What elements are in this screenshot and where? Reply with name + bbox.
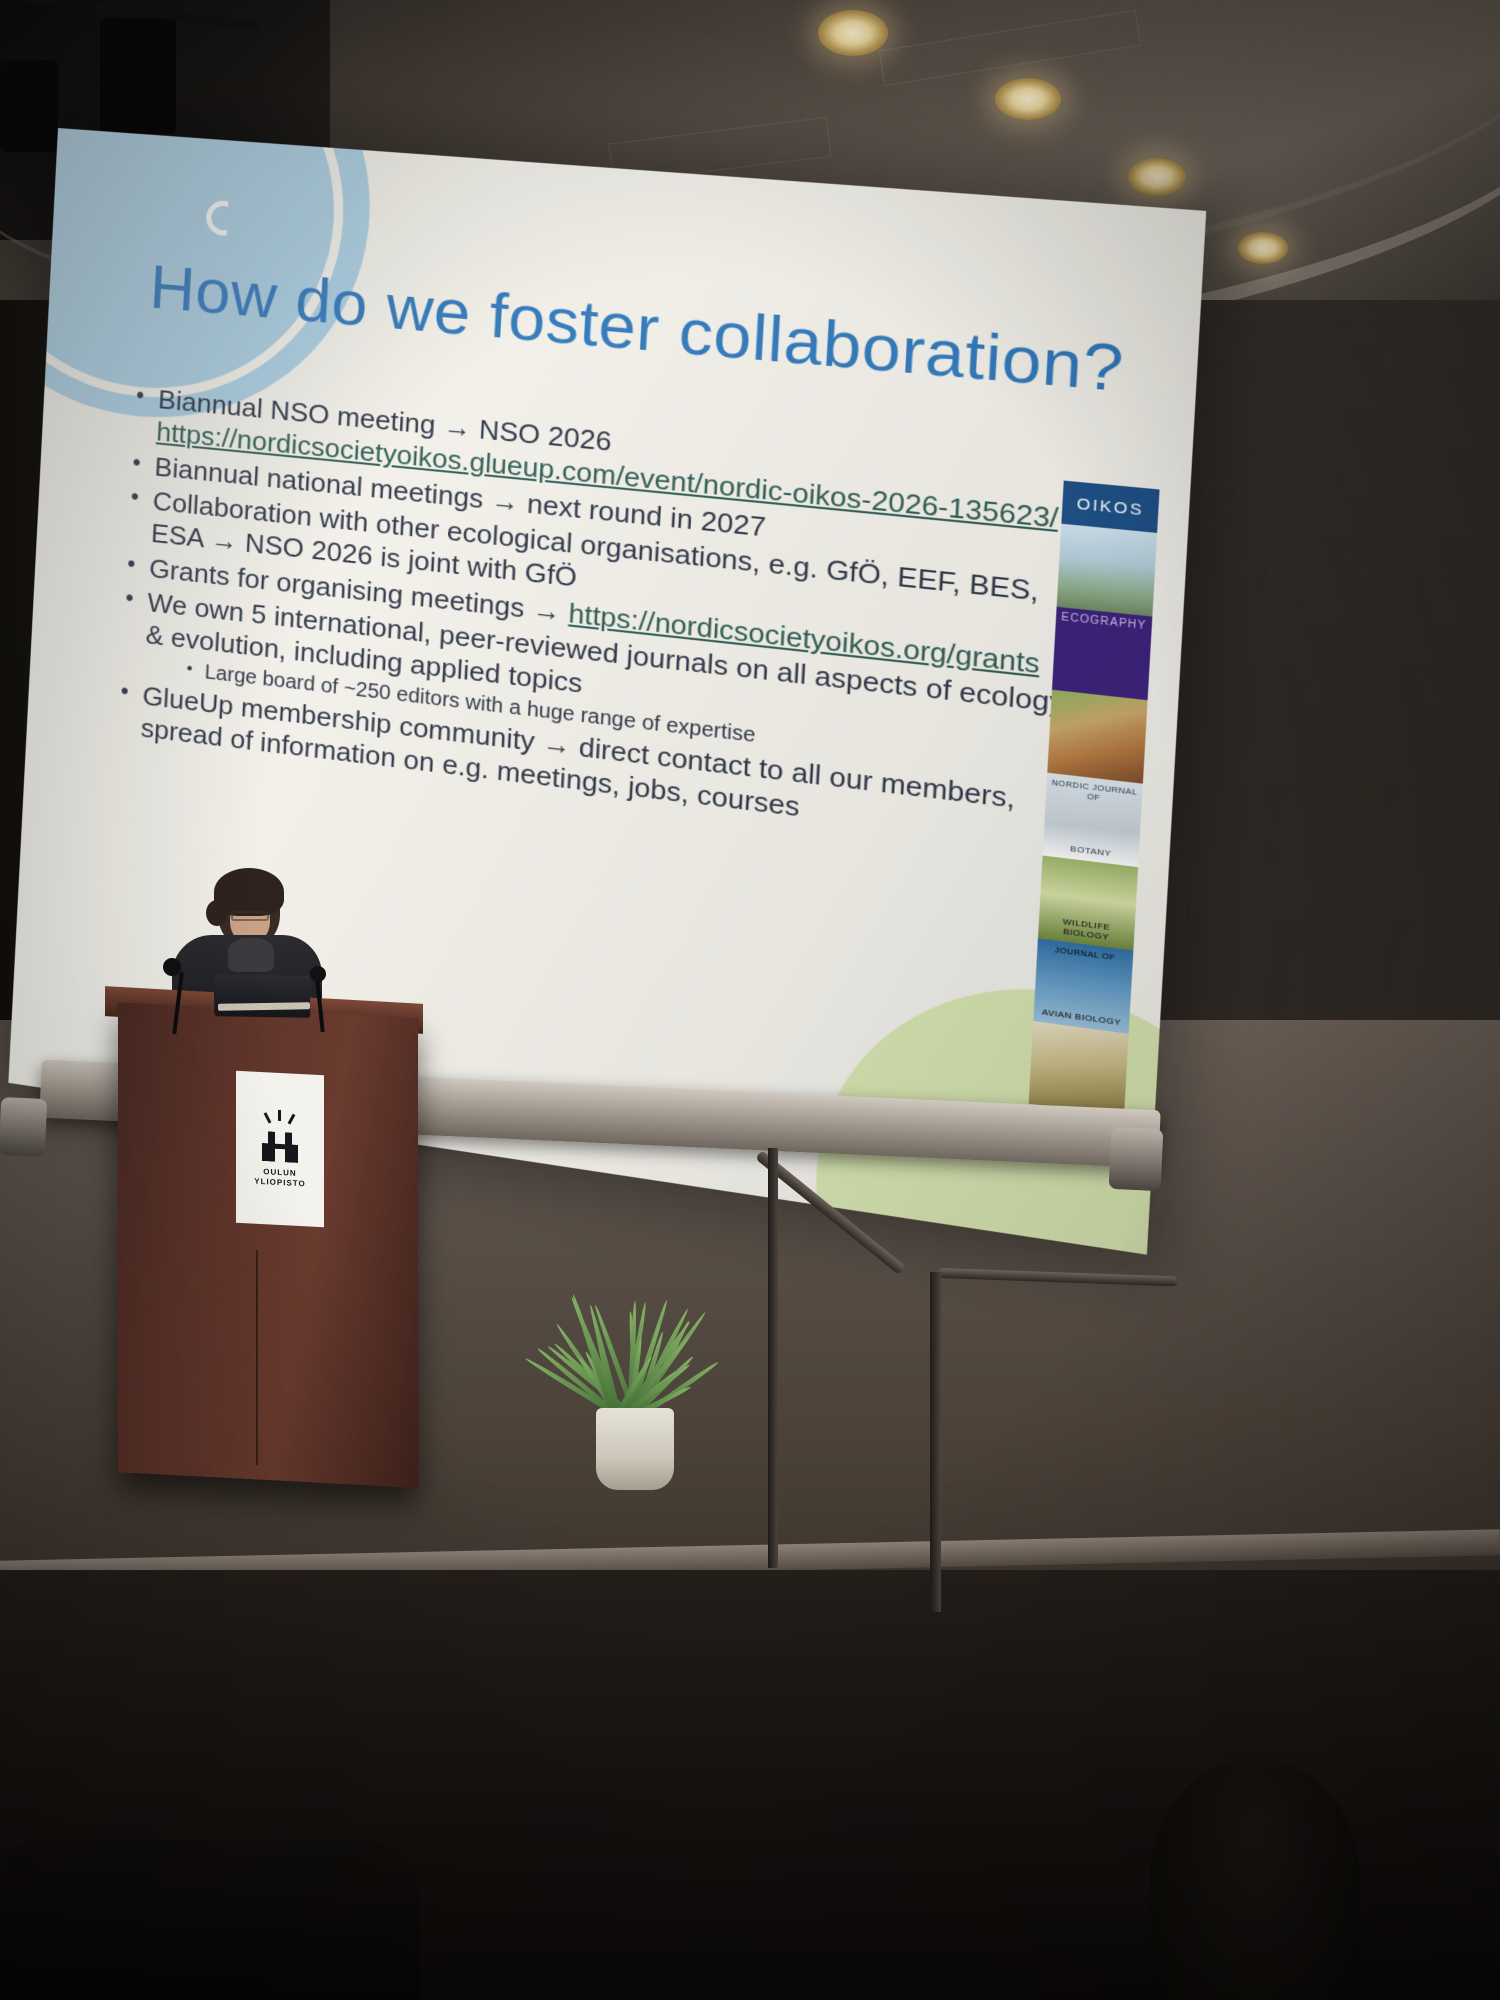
arrow-icon: → bbox=[542, 727, 572, 761]
journal-cover-thumbnail bbox=[1029, 1021, 1129, 1117]
journal-cover-thumbnail: NORDIC JOURNAL OFBOTANY bbox=[1043, 773, 1143, 868]
bullet-dot-icon: • bbox=[186, 658, 205, 681]
journal-cover-thumbnail bbox=[1047, 690, 1147, 784]
journal-cover-thumbnail: WILDLIFE BIOLOGY bbox=[1038, 856, 1138, 951]
oulu-castle-icon bbox=[256, 1109, 304, 1164]
microphone-head-left bbox=[163, 958, 181, 976]
speaker-hair-bun bbox=[206, 900, 228, 926]
handrail-post bbox=[768, 1148, 778, 1568]
audience-seat-silhouette bbox=[0, 1840, 420, 2000]
university-logo-text: OULUN YLIOPISTO bbox=[254, 1167, 306, 1190]
ceiling-downlight bbox=[818, 10, 888, 56]
presenter-laptop bbox=[214, 974, 311, 1018]
journal-cover-thumbnail: ECOGRAPHY bbox=[1052, 607, 1152, 700]
bullet-dot-icon: • bbox=[120, 677, 144, 708]
podium-panel-seam bbox=[256, 1250, 258, 1465]
bullet-dot-icon: • bbox=[132, 448, 156, 478]
bullet-dot-icon: • bbox=[127, 549, 151, 580]
slide-bullet-list: •Biannual NSO meeting → NSO 2026 https:/… bbox=[118, 381, 1088, 859]
slide-title: How do we foster collaboration? bbox=[148, 254, 1105, 403]
arrow-icon: → bbox=[490, 484, 520, 518]
microphone-head-right bbox=[310, 966, 326, 982]
stage-light-fixture bbox=[0, 60, 58, 152]
stage-light-fixture bbox=[100, 18, 176, 134]
audience-member-silhouette bbox=[1150, 1760, 1360, 2000]
arrow-icon: → bbox=[210, 524, 239, 557]
ceiling-downlight bbox=[1238, 232, 1288, 264]
bullet-dot-icon: • bbox=[125, 583, 149, 614]
speaker-glasses bbox=[231, 911, 269, 921]
bullet-dot-icon: • bbox=[135, 381, 159, 411]
ceiling-downlight bbox=[995, 78, 1061, 120]
journal-cover-thumbnail bbox=[1057, 524, 1157, 617]
university-logo-line2: YLIOPISTO bbox=[254, 1177, 306, 1190]
speaker-scarf bbox=[228, 938, 274, 972]
plant-pot bbox=[596, 1408, 674, 1490]
journal-cover-thumbnail: JOURNAL OFAVIAN BIOLOGY bbox=[1033, 938, 1133, 1034]
arrow-icon: → bbox=[532, 593, 562, 627]
ceiling-downlight bbox=[1128, 158, 1186, 196]
roller-end-cap-left bbox=[0, 1097, 47, 1157]
potted-plant-foliage bbox=[512, 1290, 758, 1420]
bullet-dot-icon: • bbox=[130, 482, 154, 512]
roller-end-cap-right bbox=[1109, 1127, 1164, 1191]
lecture-hall-scene: How do we foster collaboration? •Biannua… bbox=[0, 0, 1500, 2000]
arrow-icon: → bbox=[442, 410, 472, 444]
journal-caption-top: NORDIC JOURNAL OF bbox=[1046, 777, 1143, 808]
handrail-post-secondary bbox=[930, 1272, 941, 1612]
university-logo-plaque: OULUN YLIOPISTO bbox=[236, 1071, 324, 1228]
